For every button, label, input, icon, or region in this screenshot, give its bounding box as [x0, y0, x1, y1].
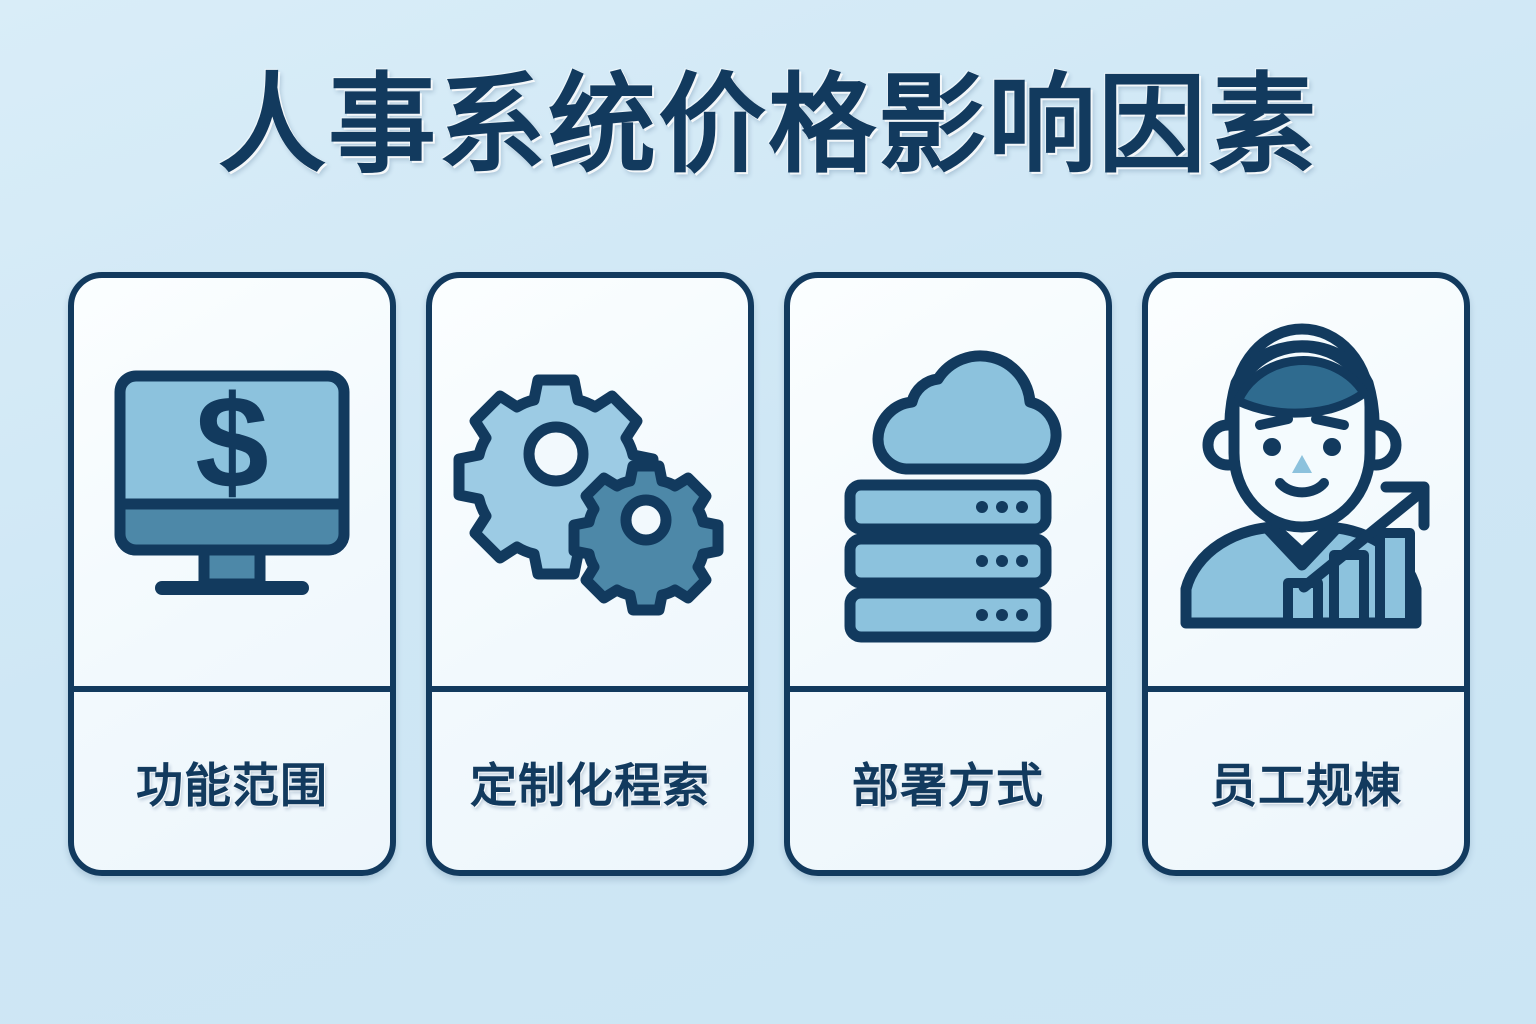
factor-card-customization-level[interactable]: 定制化程索	[426, 272, 754, 876]
icon-area: $	[74, 278, 390, 692]
label-area: 定制化程索	[432, 692, 748, 870]
gears-icon	[464, 372, 716, 592]
card-label-function-scope: 功能范围	[136, 747, 328, 816]
factor-card-row: $ 功能范围	[68, 272, 1470, 876]
card-label-employee-scale: 员工规棟	[1210, 747, 1402, 816]
page-title: 人事系统价格影响因素	[218, 71, 1318, 179]
monitor-dollar-icon: $	[106, 356, 358, 608]
icon-area	[1148, 278, 1464, 692]
factor-card-employee-scale[interactable]: 员工规棟	[1142, 272, 1470, 876]
title-banner: 人事系统价格影响因素	[0, 0, 1536, 250]
card-label-deployment-method: 部署方式	[852, 747, 1044, 816]
icon-area	[790, 278, 1106, 692]
label-area: 部署方式	[790, 692, 1106, 870]
person-growth-chart-icon	[1172, 337, 1440, 627]
svg-text:$: $	[195, 369, 268, 516]
label-area: 员工规棟	[1148, 692, 1464, 870]
card-label-customization-level: 定制化程索	[470, 747, 710, 816]
label-area: 功能范围	[74, 692, 390, 870]
icon-area	[432, 278, 748, 692]
factor-card-function-scope[interactable]: $ 功能范围	[68, 272, 396, 876]
factor-card-deployment-method[interactable]: 部署方式	[784, 272, 1112, 876]
cloud-server-icon	[832, 327, 1064, 637]
